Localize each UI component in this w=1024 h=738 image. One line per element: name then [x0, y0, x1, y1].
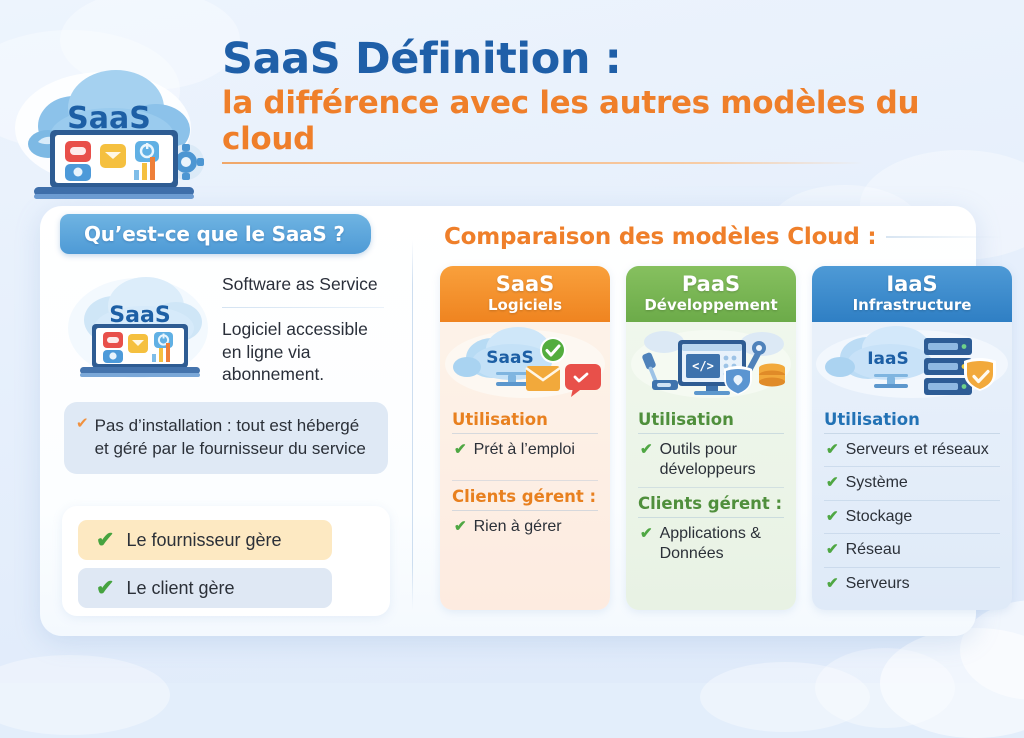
comparison-column-saas[interactable]: SaaS Logiciels SaaS — [440, 266, 610, 610]
iaas-column-body: Utilisation ✔ Serveurs et réseaux ✔ Syst… — [812, 400, 1012, 610]
chat-bubble-icon — [565, 364, 601, 397]
no-installation-callout: ✔ Pas d’installation : tout est hébergé … — [64, 402, 388, 474]
list-item-label: Applications & Données — [660, 524, 784, 565]
decorative-cloud — [0, 655, 170, 735]
list-item-label: Rien à gérer — [474, 517, 562, 537]
page-title-block: SaaS Définition : la différence avec les… — [222, 36, 922, 164]
saas-logo-illustration: SaaS — [8, 44, 218, 204]
list-item: ✔ Système — [824, 467, 1000, 499]
check-icon: ✔ — [454, 517, 467, 537]
check-icon: ✔ — [826, 440, 839, 460]
list-item: ✔ Stockage — [824, 501, 1000, 533]
check-badge-icon — [540, 337, 566, 363]
saas-column-body: Utilisation ✔ Prét à l’emploi Clients gé… — [440, 400, 610, 610]
comparison-column-paas[interactable]: PaaS Développement </> — [626, 266, 796, 610]
page-subtitle: la différence avec les autres modèles du… — [222, 86, 922, 157]
iaas-column-illustration: IaaS — [812, 322, 1012, 400]
check-icon: ✔ — [640, 440, 653, 481]
saas-column-illustration: SaaS — [440, 322, 610, 400]
column-title-paas: PaaS — [682, 274, 740, 295]
column-header-saas: SaaS Logiciels — [440, 266, 610, 322]
saas-expansion-label: Software as Service — [222, 274, 384, 296]
saas-illustration-svg: SaaS — [64, 262, 212, 392]
check-icon: ✔ — [826, 473, 839, 493]
paas-column-body: Utilisation ✔ Outils pour développeurs C… — [626, 400, 796, 610]
list-item-label: Serveurs et réseaux — [846, 440, 989, 460]
check-icon: ✔ — [826, 574, 839, 594]
check-icon: ✔ — [640, 524, 653, 565]
saas-cloud-laptop-illustration: SaaS — [64, 262, 212, 392]
column-header-paas: PaaS Développement — [626, 266, 796, 322]
list-item-label: Prét à l’emploi — [474, 440, 575, 460]
comparison-heading-row: Comparaison des modèles Cloud : — [444, 224, 1004, 250]
section-title-clients-saas: Clients gérent : — [452, 487, 598, 506]
section-title-utilisation-saas: Utilisation — [452, 410, 598, 429]
laptop-icon — [80, 324, 200, 377]
panel-tab-label: Qu’est-ce que le SaaS ? — [84, 222, 345, 246]
page-title: SaaS Définition : — [222, 36, 922, 82]
legend-client-manages: ✔ Le client gère — [78, 568, 332, 608]
column-title-iaas: IaaS — [886, 274, 937, 295]
column-subtitle-iaas: Infrastructure — [853, 296, 972, 314]
list-item: ✔ Rien à gérer — [452, 511, 598, 543]
svg-text:SaaS: SaaS — [486, 348, 533, 368]
paas-column-illustration: </> — [626, 322, 796, 400]
list-item-label: Réseau — [846, 540, 901, 560]
list-item-label: Stockage — [846, 507, 913, 527]
svg-text:</>: </> — [692, 359, 714, 373]
svg-text:IaaS: IaaS — [867, 349, 909, 369]
section-title-utilisation-iaas: Utilisation — [824, 410, 1000, 429]
column-header-iaas: IaaS Infrastructure — [812, 266, 1012, 322]
check-icon: ✔ — [96, 577, 114, 599]
check-icon: ✔ — [826, 540, 839, 560]
heading-rule — [886, 236, 1004, 238]
list-item: ✔ Réseau — [824, 534, 1000, 566]
divider — [222, 307, 384, 308]
comparison-heading: Comparaison des modèles Cloud : — [444, 224, 876, 250]
divider — [452, 480, 598, 481]
legend-provider-manages: ✔ Le fournisseur gère — [78, 520, 332, 560]
laptop-icon — [34, 130, 194, 199]
section-title-utilisation-paas: Utilisation — [638, 410, 784, 429]
saas-column-illustration-svg: SaaS — [440, 322, 610, 400]
comparison-columns: SaaS Logiciels SaaS — [440, 266, 1012, 610]
no-installation-text: Pas d’installation : tout est hébergé et… — [95, 414, 374, 461]
main-content-card: Qu’est-ce que le SaaS ? SaaS — [40, 206, 976, 636]
column-subtitle-saas: Logiciels — [488, 296, 562, 314]
legend-provider-label: Le fournisseur gère — [126, 530, 281, 551]
list-item: ✔ Serveurs et réseaux — [824, 434, 1000, 466]
database-icon — [759, 364, 785, 387]
list-item: ✔ Prét à l’emploi — [452, 434, 598, 466]
check-icon: ✔ — [826, 507, 839, 527]
responsibility-card: ✔ Le fournisseur gère ✔ Le client gère — [62, 506, 390, 616]
divider — [638, 487, 784, 488]
check-icon: ✔ — [76, 414, 89, 461]
saas-cloud-logo: SaaS — [8, 44, 218, 204]
saas-definition-row: SaaS — [64, 262, 390, 392]
usb-icon — [652, 380, 678, 390]
envelope-icon — [526, 366, 560, 391]
section-title-clients-paas: Clients gérent : — [638, 494, 784, 513]
list-item: ✔ Applications & Données — [638, 518, 784, 571]
legend-client-label: Le client gère — [126, 578, 234, 599]
paas-column-illustration-svg: </> — [626, 322, 796, 400]
list-item: ✔ Serveurs — [824, 568, 1000, 600]
iaas-column-illustration-svg: IaaS — [812, 322, 1012, 400]
panel-tab-what-is-saas: Qu’est-ce que le SaaS ? — [60, 214, 371, 254]
list-item-label: Serveurs — [846, 574, 910, 594]
comparison-column-iaas[interactable]: IaaS Infrastructure IaaS — [812, 266, 1012, 610]
cloud-models-comparison-panel: Comparaison des modèles Cloud : SaaS Log… — [412, 206, 976, 636]
saas-description: Logiciel accessible en ligne via abonnem… — [222, 318, 384, 386]
what-is-saas-panel: Qu’est-ce que le SaaS ? SaaS — [40, 206, 390, 636]
decorative-cloud — [700, 662, 870, 732]
list-item-label: Outils pour développeurs — [660, 440, 784, 481]
title-underline — [222, 162, 864, 164]
column-title-saas: SaaS — [496, 274, 555, 295]
check-icon: ✔ — [96, 529, 114, 551]
list-item-label: Système — [846, 473, 908, 493]
column-subtitle-paas: Développement — [644, 296, 777, 314]
saas-definition-text: Software as Service Logiciel accessible … — [212, 262, 390, 392]
list-item: ✔ Outils pour développeurs — [638, 434, 784, 487]
check-icon: ✔ — [454, 440, 467, 460]
